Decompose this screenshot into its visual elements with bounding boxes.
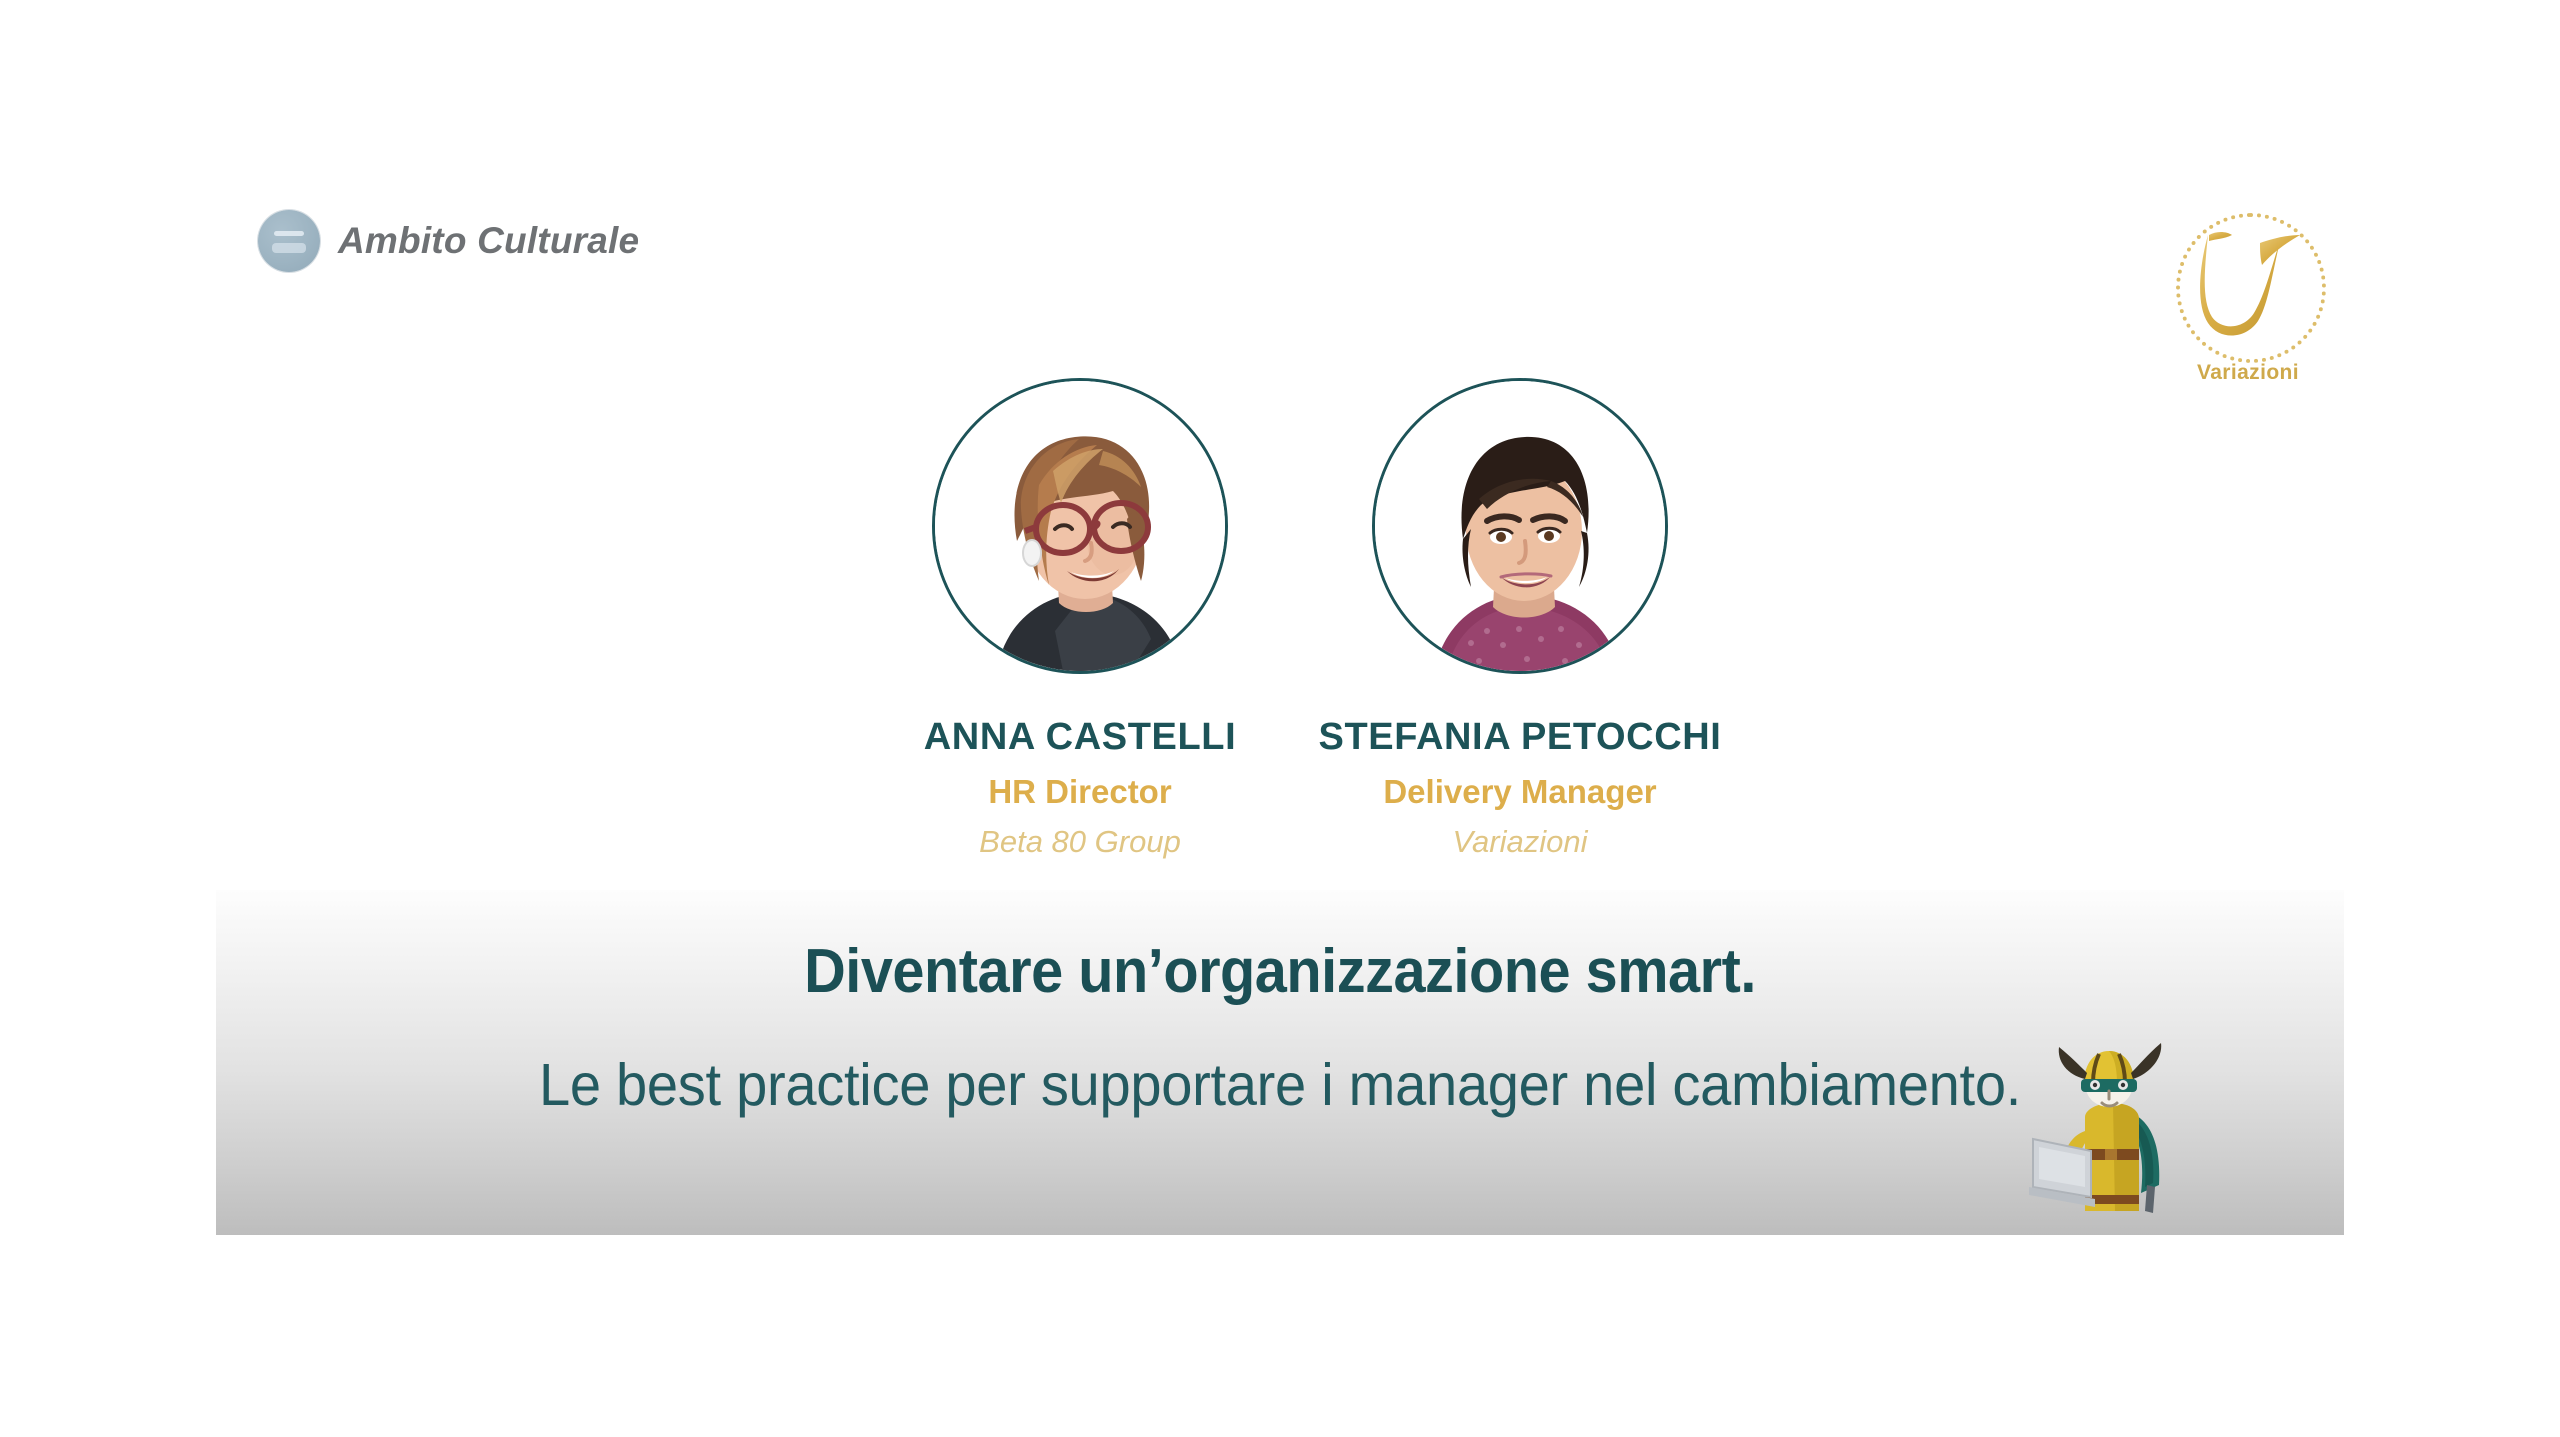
viking-with-laptop-icon (2029, 1035, 2189, 1235)
category-label: Ambito Culturale (338, 220, 639, 262)
speaker-card: ANNA CASTELLI HR Director Beta 80 Group (860, 378, 1300, 860)
presentation-slide: Ambito Culturale Variazioni (0, 0, 2560, 1437)
category-tag: Ambito Culturale (258, 210, 639, 272)
avatar (932, 378, 1228, 674)
speaker-card: STEFANIA PETOCCHI Delivery Manager Varia… (1300, 378, 1740, 860)
variazioni-v-mark-icon (2168, 213, 2328, 363)
portrait-anna-castelli (935, 381, 1225, 671)
speaker-organization: Variazioni (1453, 824, 1588, 860)
slide-title: Diventare un’organizzazione smart. (290, 936, 2269, 1007)
speakers-row: ANNA CASTELLI HR Director Beta 80 Group (860, 378, 1740, 860)
avatar (1372, 378, 1668, 674)
speaker-name: ANNA CASTELLI (924, 716, 1237, 759)
portrait-stefania-petocchi (1375, 381, 1665, 671)
speaker-role: HR Director (988, 773, 1171, 811)
brand-logo: Variazioni (2168, 213, 2328, 403)
title-banner: Diventare un’organizzazione smart. Le be… (216, 890, 2344, 1235)
viking-mascot (2029, 1035, 2189, 1235)
brand-name: Variazioni (2168, 361, 2328, 385)
badge-icon (258, 210, 320, 272)
slide-subtitle: Le best practice per supportare i manage… (269, 1051, 2291, 1119)
speaker-organization: Beta 80 Group (979, 824, 1181, 860)
speaker-name: STEFANIA PETOCCHI (1319, 716, 1722, 759)
speaker-role: Delivery Manager (1383, 773, 1656, 811)
